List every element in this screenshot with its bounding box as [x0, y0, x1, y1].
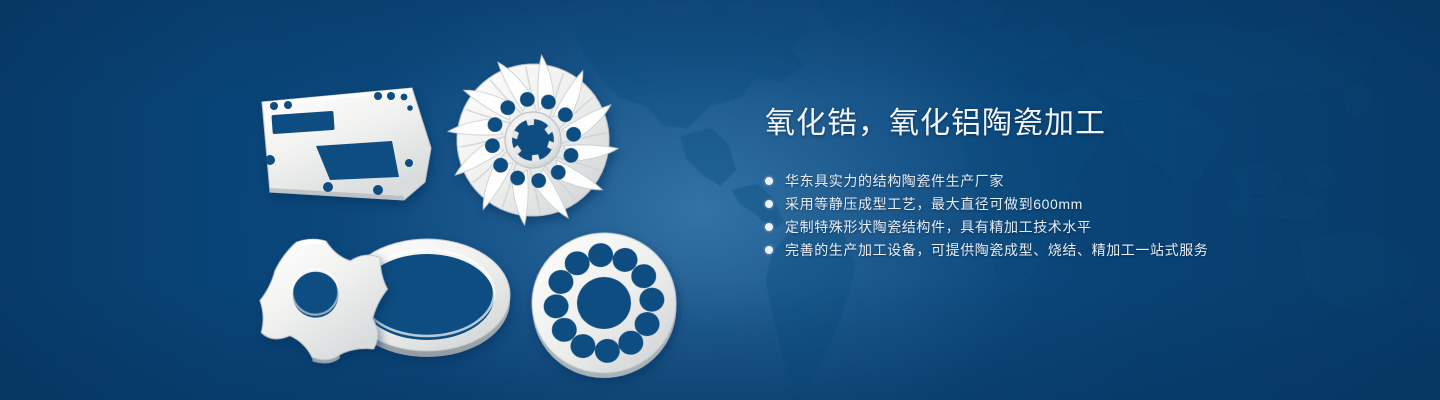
hero-banner: 氧化锆，氧化铝陶瓷加工 华东具实力的结构陶瓷件生产厂家 采用等静压成型工艺，最大… — [0, 0, 1440, 400]
feature-item-2: 采用等静压成型工艺，最大直径可做到600mm — [765, 193, 1405, 215]
feature-text-1: 华东具实力的结构陶瓷件生产厂家 — [785, 170, 1004, 192]
feature-item-1: 华东具实力的结构陶瓷件生产厂家 — [765, 170, 1405, 192]
bullet-dot-icon — [765, 223, 773, 231]
banner-headline: 氧化锆，氧化铝陶瓷加工 — [765, 104, 1405, 144]
feature-text-3: 定制特殊形状陶瓷结构件，具有精加工技术水平 — [785, 216, 1092, 238]
feature-list: 华东具实力的结构陶瓷件生产厂家 采用等静压成型工艺，最大直径可做到600mm 定… — [765, 170, 1405, 261]
bullet-dot-icon — [765, 177, 773, 185]
banner-copy: 氧化锆，氧化铝陶瓷加工 华东具实力的结构陶瓷件生产厂家 采用等静压成型工艺，最大… — [765, 104, 1405, 261]
feature-item-4: 完善的生产加工设备，可提供陶瓷成型、烧结、精加工一站式服务 — [765, 239, 1405, 261]
feature-text-4: 完善的生产加工设备，可提供陶瓷成型、烧结、精加工一站式服务 — [785, 239, 1208, 261]
feature-item-3: 定制特殊形状陶瓷结构件，具有精加工技术水平 — [765, 216, 1405, 238]
feature-text-2: 采用等静压成型工艺，最大直径可做到600mm — [785, 193, 1083, 215]
bullet-dot-icon — [765, 246, 773, 254]
bullet-dot-icon — [765, 200, 773, 208]
